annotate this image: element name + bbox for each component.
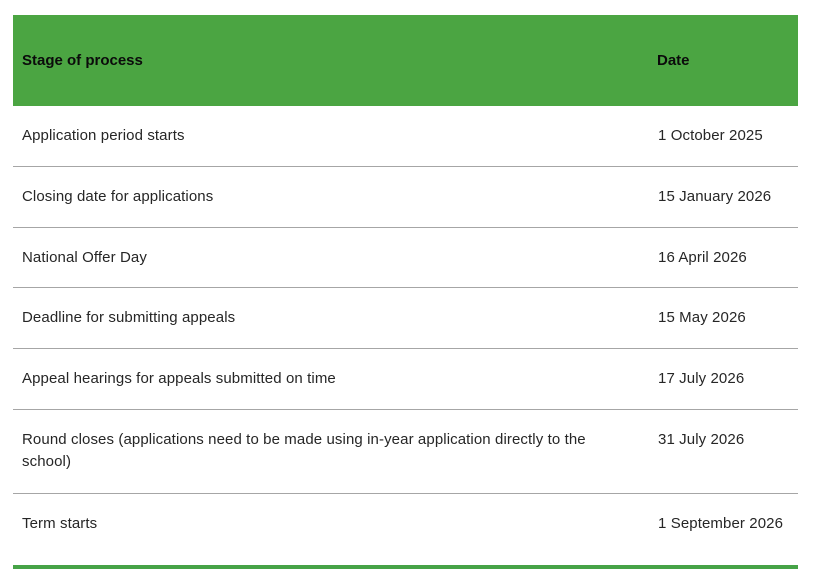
cell-stage: Closing date for applications <box>13 166 648 227</box>
table-row: Deadline for submitting appeals 15 May 2… <box>13 288 798 349</box>
cell-stage: Round closes (applications need to be ma… <box>13 409 648 494</box>
table-row: Round closes (applications need to be ma… <box>13 409 798 494</box>
cell-stage: National Offer Day <box>13 227 648 288</box>
table-body: Application period starts 1 October 2025… <box>13 106 798 567</box>
column-header-date: Date <box>648 15 798 106</box>
admissions-timetable: Stage of process Date Application period… <box>13 15 798 569</box>
cell-date: 1 October 2025 <box>648 106 798 166</box>
column-header-date-label: Date <box>648 51 798 71</box>
table-row: Term starts 1 September 2026 <box>13 494 798 567</box>
table-header-row: Stage of process Date <box>13 15 798 106</box>
cell-date: 17 July 2026 <box>648 349 798 410</box>
cell-date: 15 January 2026 <box>648 166 798 227</box>
cell-stage: Term starts <box>13 494 648 567</box>
table-row: Appeal hearings for appeals submitted on… <box>13 349 798 410</box>
cell-date: 1 September 2026 <box>648 494 798 567</box>
cell-date: 15 May 2026 <box>648 288 798 349</box>
timetable-container: Stage of process Date Application period… <box>13 15 798 569</box>
column-header-stage-label: Stage of process <box>13 51 648 71</box>
table-row: National Offer Day 16 April 2026 <box>13 227 798 288</box>
cell-date: 31 July 2026 <box>648 409 798 494</box>
cell-stage: Application period starts <box>13 106 648 166</box>
cell-stage: Appeal hearings for appeals submitted on… <box>13 349 648 410</box>
cell-date: 16 April 2026 <box>648 227 798 288</box>
cell-stage: Deadline for submitting appeals <box>13 288 648 349</box>
table-row: Application period starts 1 October 2025 <box>13 106 798 166</box>
table-header: Stage of process Date <box>13 15 798 106</box>
column-header-stage: Stage of process <box>13 15 648 106</box>
table-row: Closing date for applications 15 January… <box>13 166 798 227</box>
